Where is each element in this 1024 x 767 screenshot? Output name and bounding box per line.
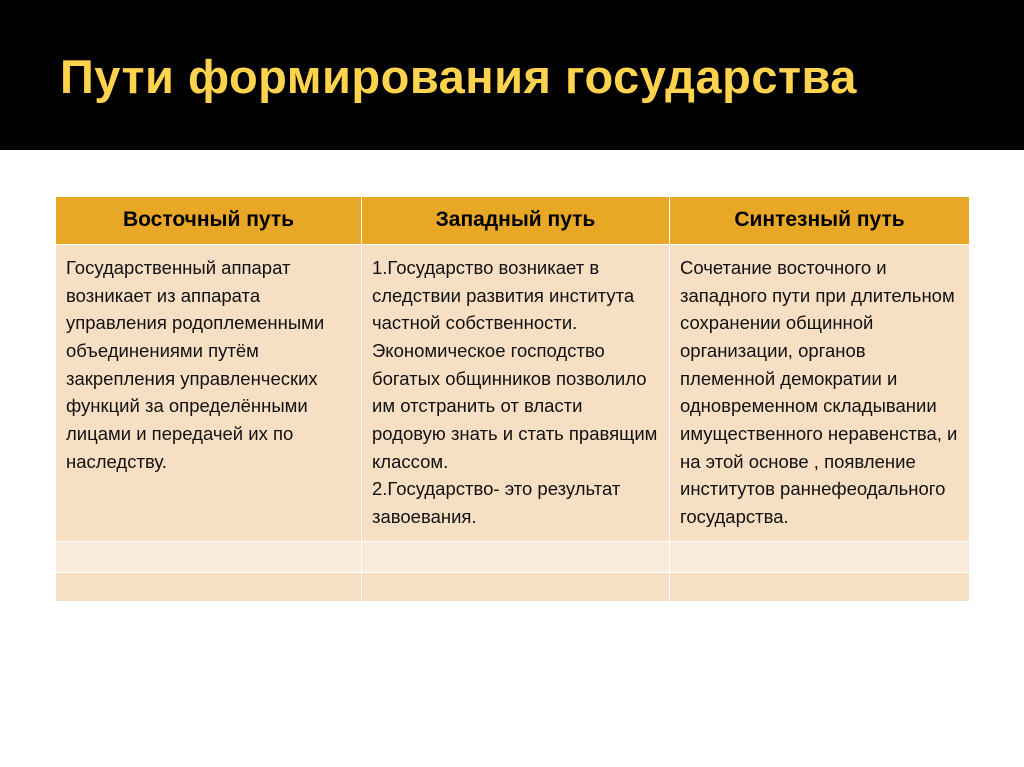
cell-empty [56, 572, 362, 601]
cell-empty [670, 572, 970, 601]
cell-eastern-description: Государственный аппарат возникает из апп… [56, 245, 362, 542]
table-header-row: Восточный путь Западный путь Синтезный п… [56, 197, 970, 245]
cell-empty [362, 572, 670, 601]
cell-empty [56, 541, 362, 572]
column-header-western: Западный путь [362, 197, 670, 245]
cell-empty [670, 541, 970, 572]
column-header-eastern: Восточный путь [56, 197, 362, 245]
page-title: Пути формирования государства [60, 52, 857, 101]
cell-empty [362, 541, 670, 572]
cell-synthetic-description: Сочетание восточного и западного пути пр… [670, 245, 970, 542]
table-row: Государственный аппарат возникает из апп… [56, 245, 970, 542]
table-row-empty-2 [56, 572, 970, 601]
table-row-empty-1 [56, 541, 970, 572]
column-header-synthetic: Синтезный путь [670, 197, 970, 245]
cell-western-description: 1.Государство возникает в следствии разв… [362, 245, 670, 542]
slide: Пути формирования государства Восточный … [0, 0, 1024, 767]
paths-table: Восточный путь Западный путь Синтезный п… [55, 196, 970, 602]
paths-table-container: Восточный путь Западный путь Синтезный п… [55, 196, 969, 602]
